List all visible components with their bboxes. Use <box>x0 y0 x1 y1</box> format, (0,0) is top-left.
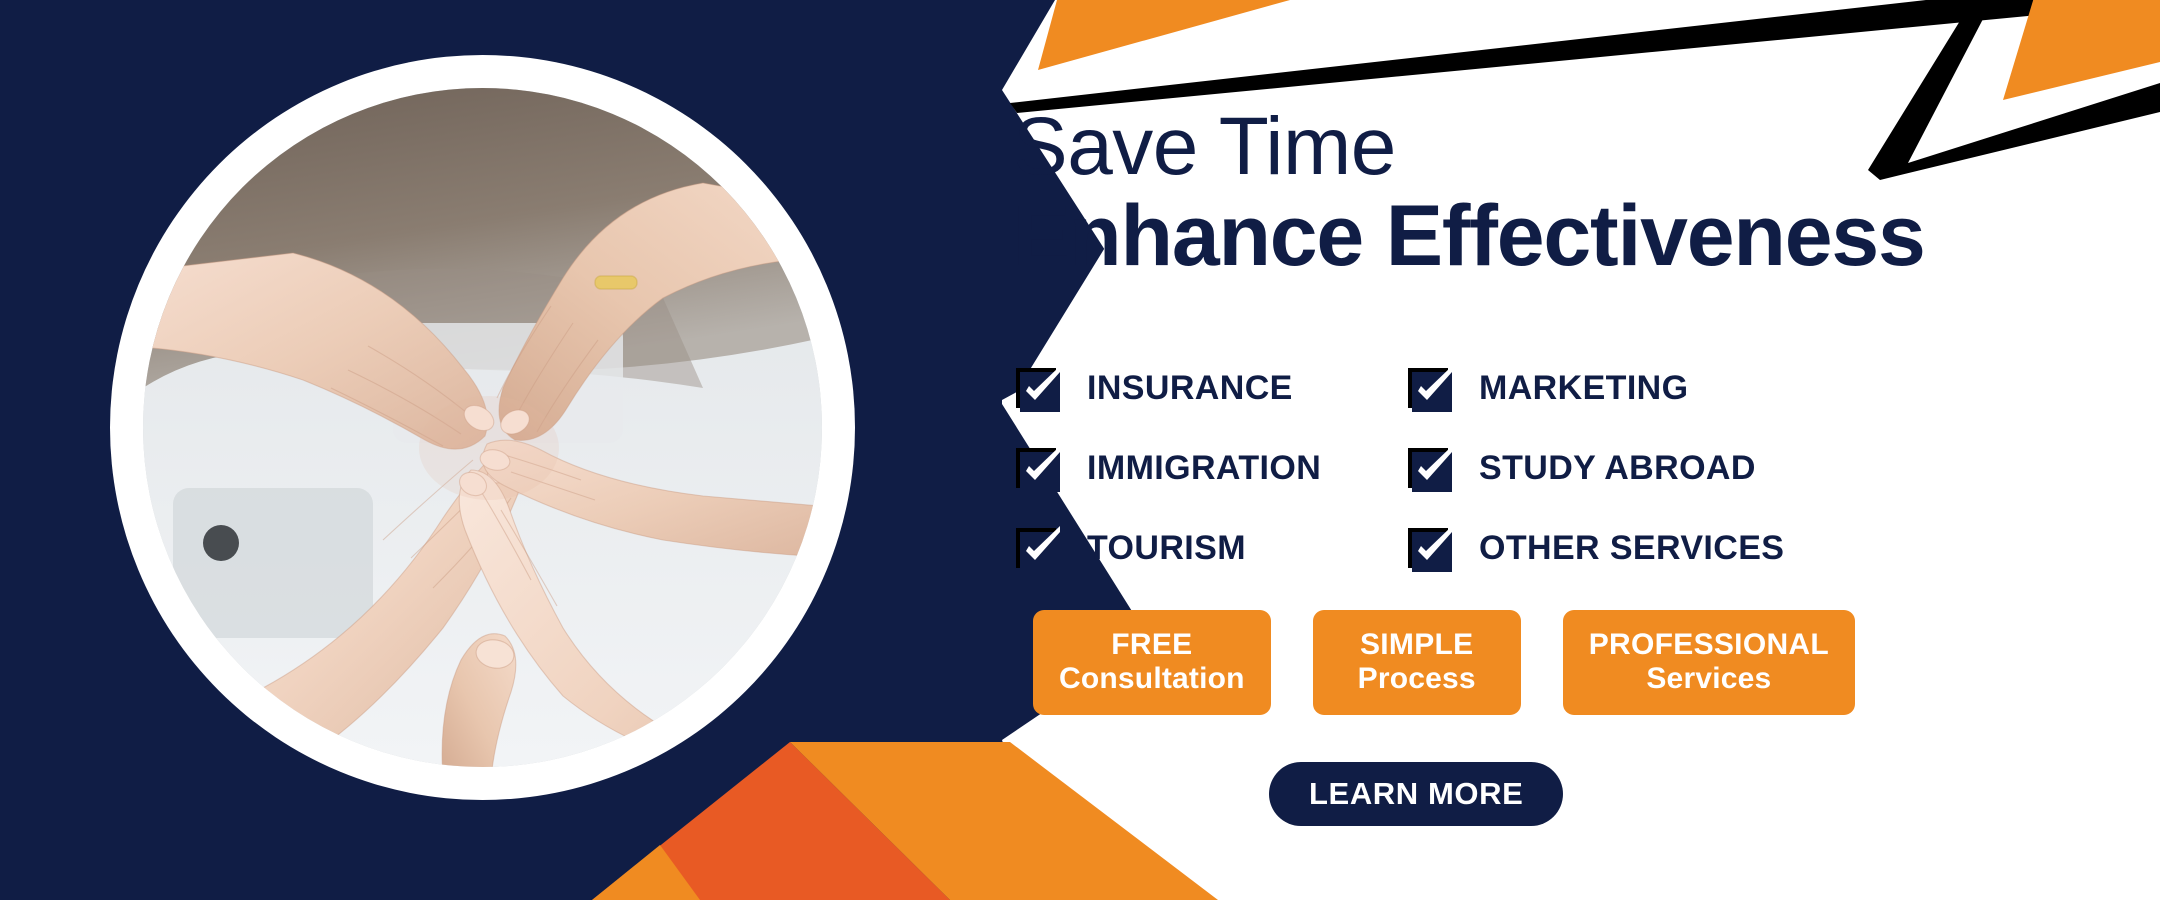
photo-circle-frame <box>110 55 855 800</box>
checked-checkbox-icon[interactable] <box>1407 524 1455 572</box>
promo-banner: Save Time Enhance Effectiveness INSURANC… <box>0 0 2160 900</box>
feature-button-free-consultation[interactable]: FREE Consultation <box>1033 610 1271 715</box>
checked-checkbox-icon[interactable] <box>1015 444 1063 492</box>
feature-subtitle: Consultation <box>1059 662 1245 696</box>
headline-block: Save Time Enhance Effectiveness <box>1013 108 2160 279</box>
orange-chevron-left-face <box>592 742 950 900</box>
feature-button-simple-process[interactable]: SIMPLE Process <box>1313 610 1521 715</box>
service-item-study-abroad[interactable]: STUDY ABROAD <box>1407 428 2160 508</box>
headline-line-1: Save Time <box>1013 108 2160 187</box>
feature-title: PROFESSIONAL <box>1589 628 1829 662</box>
service-label: INSURANCE <box>1087 369 1293 408</box>
headline-line-2: Enhance Effectiveness <box>1013 193 2160 279</box>
service-item-immigration[interactable]: IMMIGRATION <box>1015 428 1407 508</box>
feature-title: SIMPLE <box>1339 628 1495 662</box>
feature-subtitle: Services <box>1589 662 1829 696</box>
service-item-marketing[interactable]: MARKETING <box>1407 348 2160 428</box>
service-item-tourism[interactable]: TOURISM <box>1015 508 1407 588</box>
service-label: TOURISM <box>1087 529 1246 568</box>
feature-subtitle: Process <box>1339 662 1495 696</box>
service-label: MARKETING <box>1479 369 1688 408</box>
feature-buttons: FREE Consultation SIMPLE Process PROFESS… <box>1033 610 1855 715</box>
checked-checkbox-icon[interactable] <box>1015 364 1063 412</box>
learn-more-button[interactable]: LEARN MORE <box>1269 762 1563 826</box>
content-column: Save Time Enhance Effectiveness INSURANC… <box>1013 0 2160 900</box>
feature-title: FREE <box>1059 628 1245 662</box>
service-item-insurance[interactable]: INSURANCE <box>1015 348 1407 428</box>
team-hands-photo <box>143 88 822 767</box>
services-checklist: INSURANCE MARKETING <box>1015 348 2160 588</box>
team-hands-illustration <box>143 88 822 767</box>
service-label: STUDY ABROAD <box>1479 449 1756 488</box>
service-label: IMMIGRATION <box>1087 449 1321 488</box>
feature-button-professional-services[interactable]: PROFESSIONAL Services <box>1563 610 1855 715</box>
service-label: OTHER SERVICES <box>1479 529 1784 568</box>
orange-chevron-band <box>592 845 700 900</box>
checked-checkbox-icon[interactable] <box>1407 444 1455 492</box>
checked-checkbox-icon[interactable] <box>1407 364 1455 412</box>
checked-checkbox-icon[interactable] <box>1015 524 1063 572</box>
service-item-other-services[interactable]: OTHER SERVICES <box>1407 508 2160 588</box>
